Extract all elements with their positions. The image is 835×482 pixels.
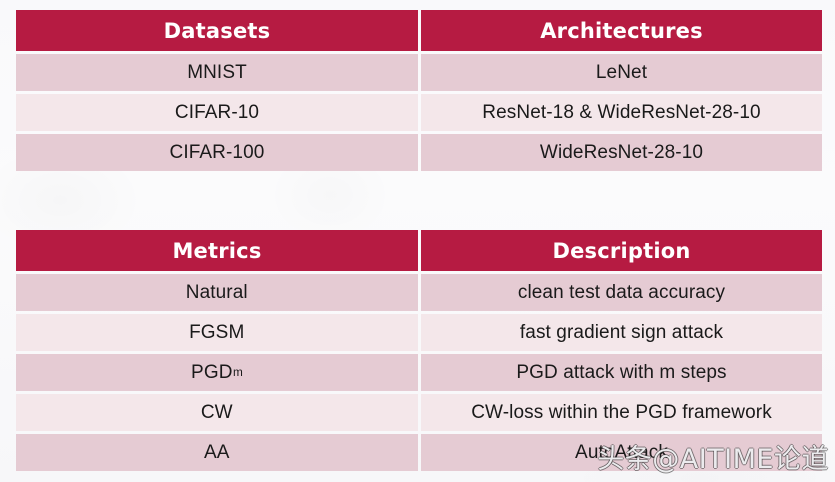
metric-description-cell: clean test data accuracy <box>421 274 822 311</box>
metric-description-cell: AutoAttack <box>421 434 822 471</box>
table-header-row: Datasets Architectures <box>16 10 822 51</box>
metric-name-cell: FGSM <box>16 314 418 351</box>
metric-name-cell: PGDm <box>16 354 418 391</box>
column-header-datasets: Datasets <box>16 10 418 51</box>
table-row: MNIST LeNet <box>16 54 822 91</box>
column-header-architectures: Architectures <box>421 10 822 51</box>
table-row: PGDm PGD attack with m steps <box>16 354 822 391</box>
column-header-metrics: Metrics <box>16 230 418 271</box>
metric-label: AA <box>204 442 230 464</box>
dataset-architecture-cell: WideResNet-28-10 <box>421 134 822 171</box>
table-header-row: Metrics Description <box>16 230 822 271</box>
dataset-name-cell: CIFAR-100 <box>16 134 418 171</box>
table-row: CIFAR-10 ResNet-18 & WideResNet-28-10 <box>16 94 822 131</box>
column-header-description: Description <box>421 230 822 271</box>
dataset-name-cell: CIFAR-10 <box>16 94 418 131</box>
metric-label: PGD <box>191 362 232 384</box>
table-row: FGSM fast gradient sign attack <box>16 314 822 351</box>
metric-name-cell: Natural <box>16 274 418 311</box>
metric-description-cell: CW-loss within the PGD framework <box>421 394 822 431</box>
dataset-architecture-cell: LeNet <box>421 54 822 91</box>
dataset-architecture-cell: ResNet-18 & WideResNet-28-10 <box>421 94 822 131</box>
datasets-table: Datasets Architectures MNIST LeNet CIFAR… <box>16 10 822 171</box>
metric-name-cell: CW <box>16 394 418 431</box>
table-row: AA AutoAttack <box>16 434 822 471</box>
dataset-name-cell: MNIST <box>16 54 418 91</box>
metric-name-cell: AA <box>16 434 418 471</box>
metric-label: CW <box>201 402 233 424</box>
metrics-table: Metrics Description Natural clean test d… <box>16 230 822 471</box>
table-row: Natural clean test data accuracy <box>16 274 822 311</box>
metric-description-cell: fast gradient sign attack <box>421 314 822 351</box>
table-row: CIFAR-100 WideResNet-28-10 <box>16 134 822 171</box>
metric-label: FGSM <box>189 322 244 344</box>
slide-canvas: Datasets Architectures MNIST LeNet CIFAR… <box>0 0 835 482</box>
metric-label: Natural <box>186 282 248 304</box>
table-row: CW CW-loss within the PGD framework <box>16 394 822 431</box>
metric-description-cell: PGD attack with m steps <box>421 354 822 391</box>
